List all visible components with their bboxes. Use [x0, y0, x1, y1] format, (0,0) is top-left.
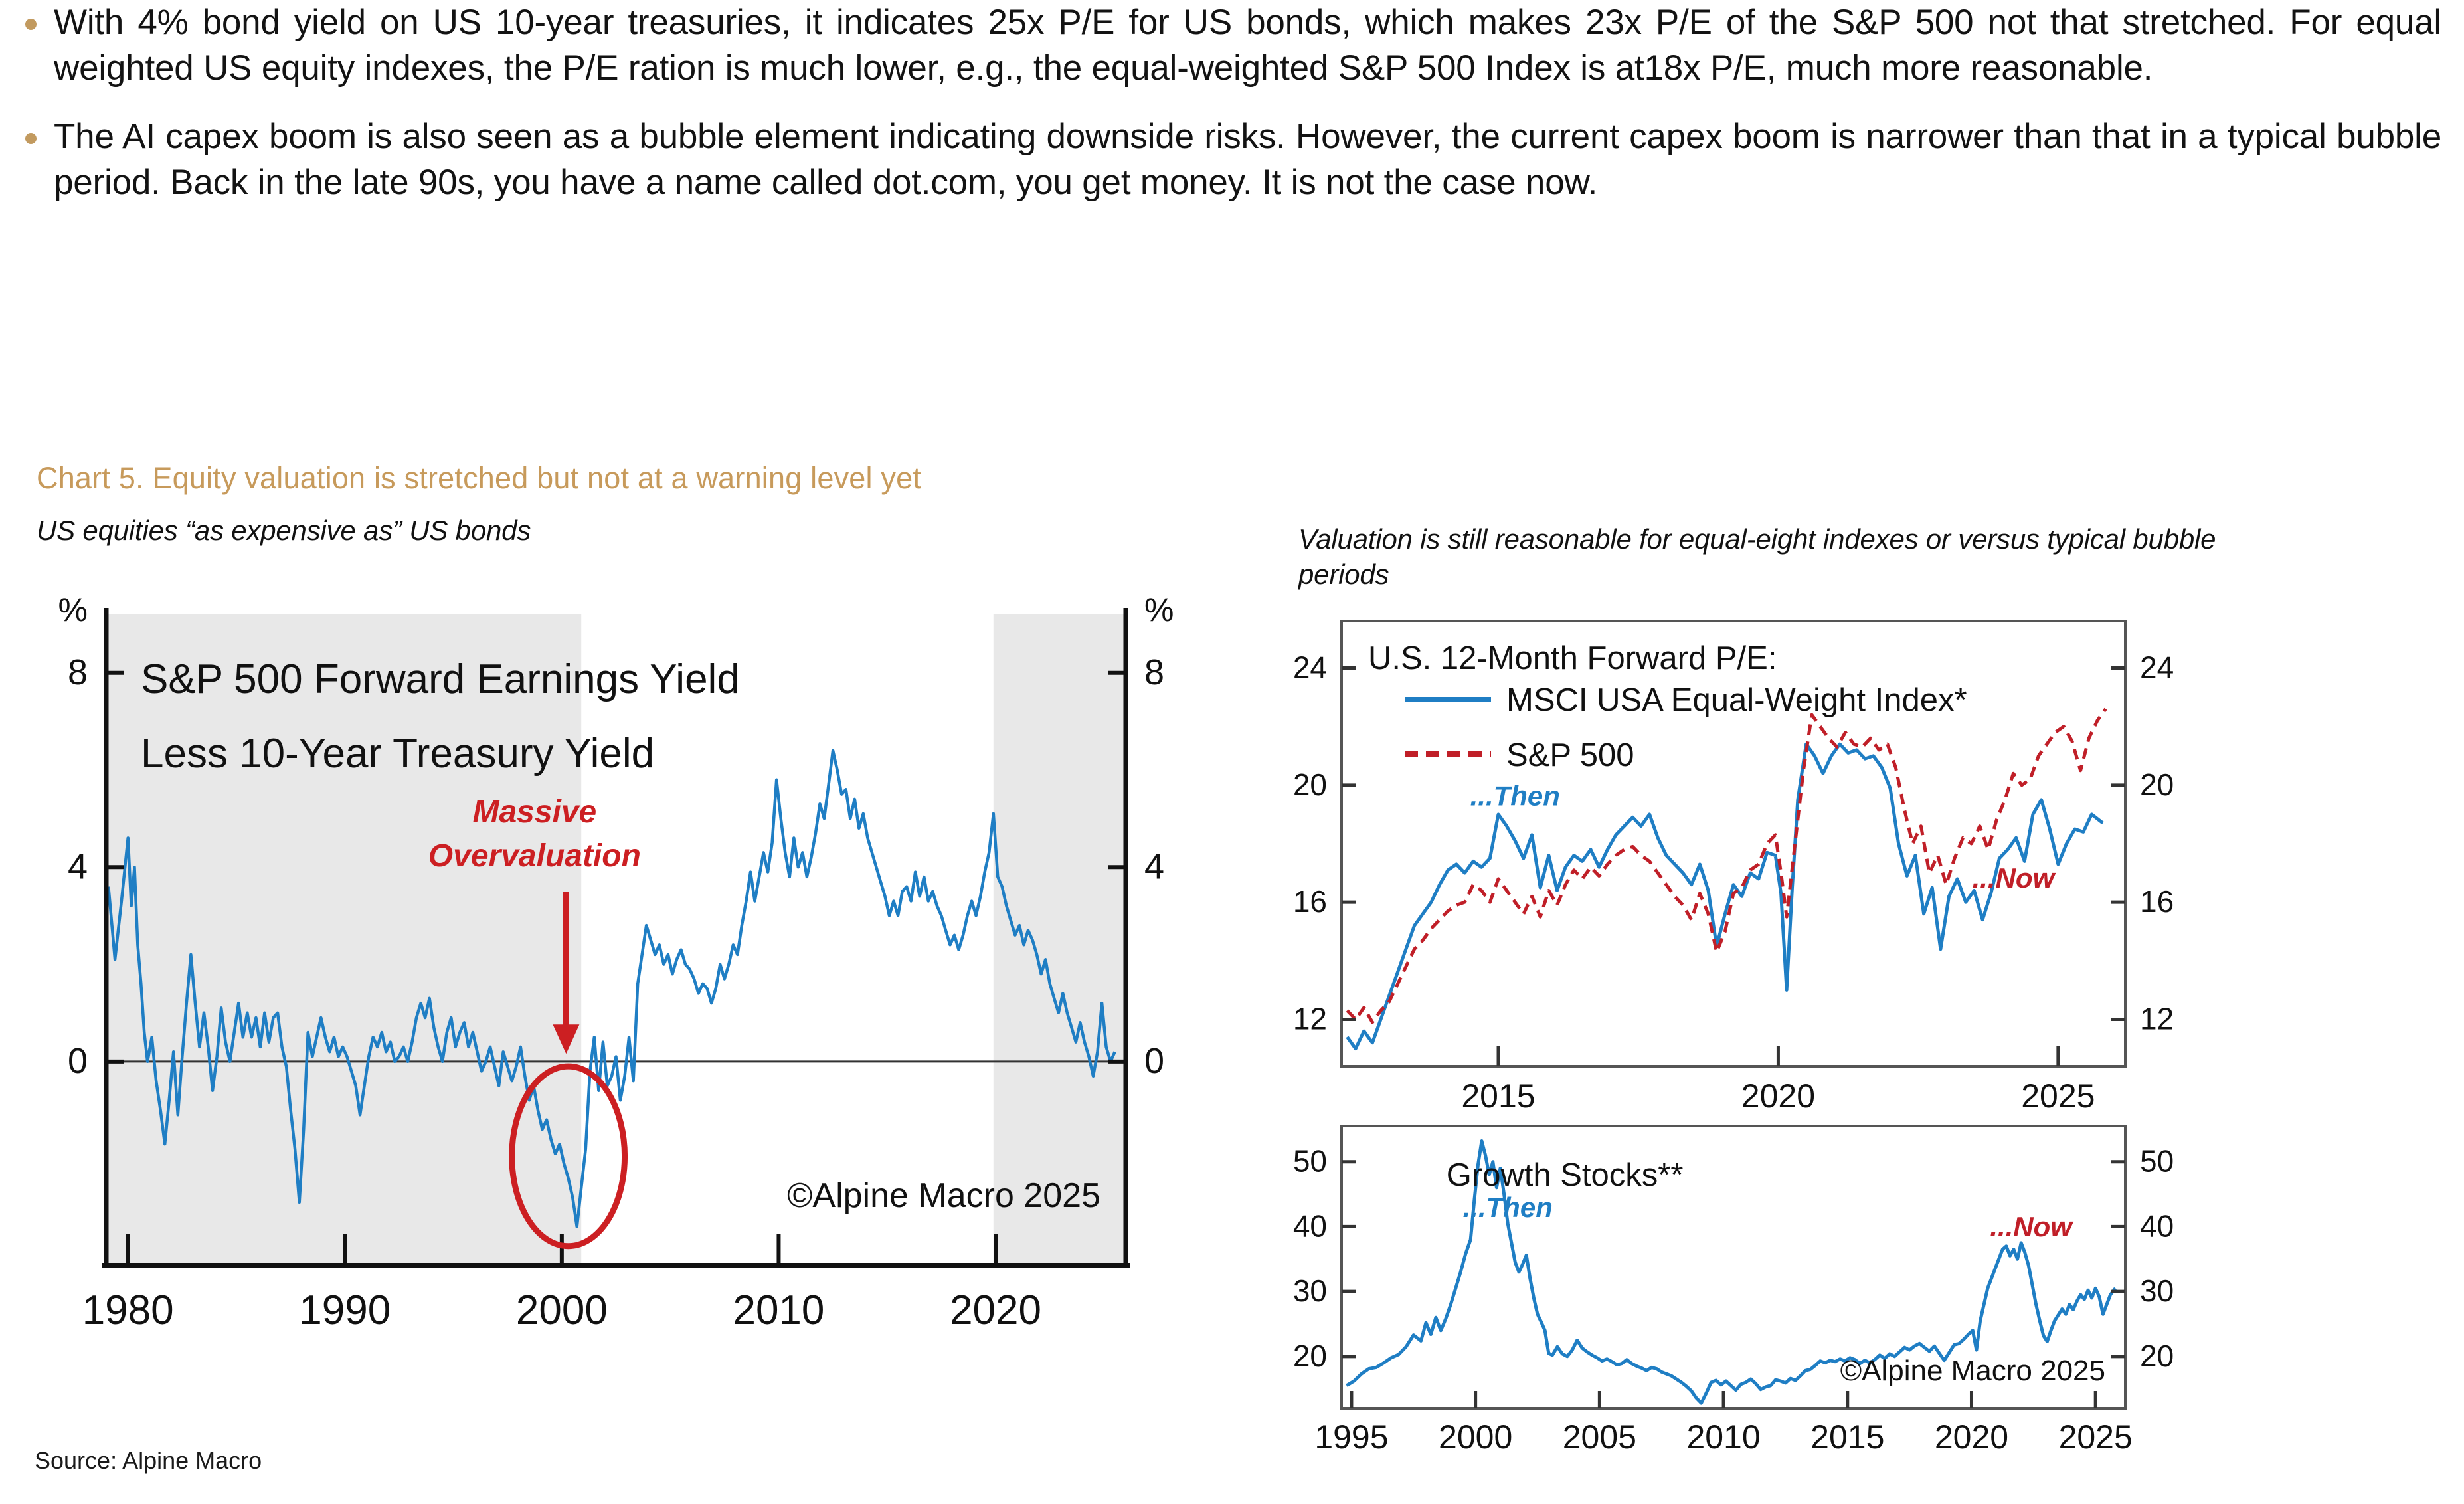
source-note: Source: Alpine Macro	[35, 1447, 262, 1475]
y-tick-label: 12	[1293, 1001, 1327, 1036]
x-tick-label: 2025	[2059, 1418, 2133, 1456]
y-tick-label: 20	[1293, 767, 1327, 802]
y-tick-label: 12	[2140, 1001, 2174, 1036]
x-tick-label: 1980	[82, 1287, 174, 1333]
y-tick-label: 30	[2140, 1273, 2174, 1308]
copyright-note: ©Alpine Macro 2025	[787, 1176, 1100, 1215]
x-tick-label: 2000	[516, 1287, 608, 1333]
x-tick-label: 2020	[1935, 1418, 2008, 1456]
chart-inline-title-line2: Less 10-Year Treasury Yield	[141, 731, 654, 777]
annotation-text: Overvaluation	[428, 838, 641, 874]
annotation-text: ...Now	[1973, 862, 2056, 893]
y-tick-label: 50	[1293, 1144, 1327, 1178]
x-tick-label: 2015	[1461, 1078, 1535, 1115]
legend-label-sp500: S&P 500	[1506, 737, 1634, 773]
copyright-note: ©Alpine Macro 2025	[1840, 1355, 2105, 1387]
chart-title: Chart 5. Equity valuation is stretched b…	[37, 461, 921, 496]
y-tick-label: 24	[2140, 650, 2174, 685]
bullet-item: The AI capex boom is also seen as a bubb…	[0, 114, 2464, 206]
bullet-dot-icon	[25, 133, 37, 144]
panel-title: Growth Stocks**	[1447, 1157, 1684, 1193]
legend-label-msci: MSCI USA Equal-Weight Index*	[1506, 682, 1967, 718]
y-tick-label: 20	[2140, 1339, 2174, 1373]
bullet-dot-icon	[25, 19, 37, 30]
series-line	[1347, 744, 2103, 1049]
bullet-text: With 4% bond yield on US 10-year treasur…	[54, 0, 2441, 92]
chart-inline-title-line1: S&P 500 Forward Earnings Yield	[141, 656, 740, 702]
annotation-text: ...Then	[1463, 1192, 1553, 1223]
x-tick-label: 2000	[1439, 1418, 1512, 1456]
x-tick-label: 2015	[1810, 1418, 1884, 1456]
chart-sp500-earnings-yield-spread: 004488%%19801990200020102020S&P 500 Forw…	[27, 578, 1215, 1382]
y-tick-label: 20	[1293, 1339, 1327, 1373]
y-tick-label: 50	[2140, 1144, 2174, 1178]
x-tick-label: 2025	[2021, 1078, 2095, 1115]
chart-forward-pe-panels: 1212161620202424201520202025U.S. 12-Mont…	[1262, 601, 2205, 1471]
shaded-band	[994, 614, 1126, 1266]
y-tick-label: 30	[1293, 1273, 1327, 1308]
y-tick-label: 8	[68, 652, 88, 692]
annotation-text: ...Then	[1470, 781, 1560, 812]
y-tick-label: 24	[1293, 650, 1327, 685]
annotation-text: ...Now	[1990, 1211, 2073, 1242]
left-panel-subtitle: US equities “as expensive as” US bonds	[37, 515, 531, 547]
y-tick-label: 0	[68, 1041, 88, 1081]
y-tick-label: 4	[68, 846, 88, 886]
right-panel-subtitle: Valuation is still reasonable for equal-…	[1298, 521, 2295, 593]
y-tick-label: 8	[1144, 652, 1164, 692]
x-tick-label: 2010	[1686, 1418, 1760, 1456]
x-tick-label: 1995	[1314, 1418, 1388, 1456]
y-tick-label: 16	[1293, 884, 1327, 919]
x-tick-label: 1990	[299, 1287, 391, 1333]
annotation-text: Massive	[472, 795, 596, 830]
y-axis-unit-right: %	[1144, 591, 1174, 628]
bullet-list: With 4% bond yield on US 10-year treasur…	[0, 0, 2464, 229]
bullet-text: The AI capex boom is also seen as a bubb…	[54, 114, 2441, 206]
y-axis-unit-left: %	[58, 591, 88, 628]
y-tick-label: 0	[1144, 1041, 1164, 1081]
x-tick-label: 2020	[950, 1287, 1041, 1333]
y-tick-label: 40	[1293, 1208, 1327, 1243]
x-tick-label: 2020	[1741, 1078, 1815, 1115]
x-tick-label: 2005	[1563, 1418, 1636, 1456]
y-tick-label: 4	[1144, 846, 1164, 886]
bullet-item: With 4% bond yield on US 10-year treasur…	[0, 0, 2464, 92]
x-tick-label: 2010	[733, 1287, 824, 1333]
y-tick-label: 40	[2140, 1208, 2174, 1243]
panel-title: U.S. 12-Month Forward P/E:	[1368, 640, 1777, 676]
y-tick-label: 20	[2140, 767, 2174, 802]
y-tick-label: 16	[2140, 884, 2174, 919]
